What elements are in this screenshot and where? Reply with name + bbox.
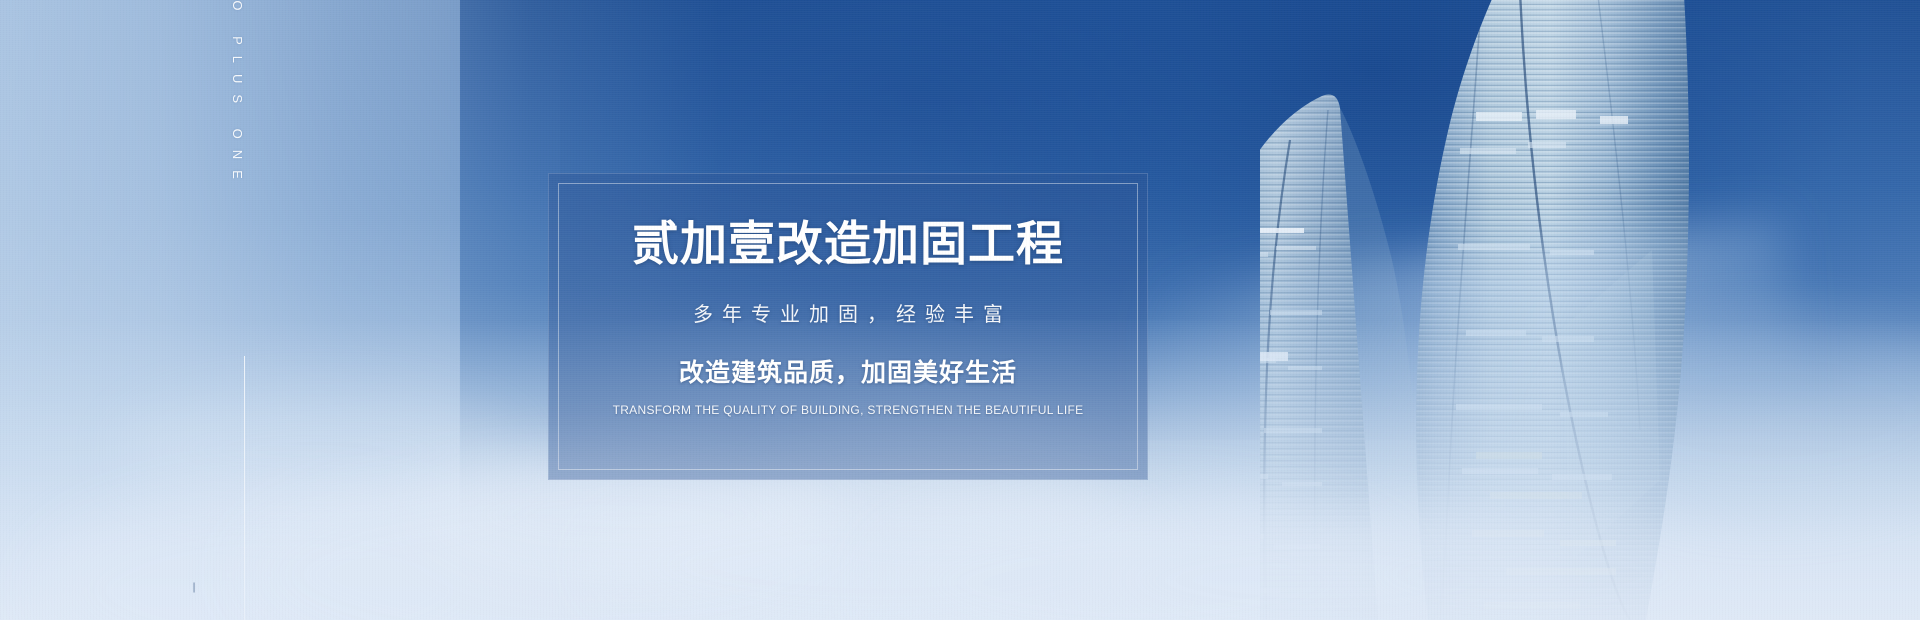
message-panel: 贰加壹改造加固工程 多年专业加固，经验丰富 改造建筑品质，加固美好生活 TRAN… <box>548 173 1148 480</box>
brand-mark-glyph: 一 <box>186 582 202 594</box>
cloud <box>120 390 520 510</box>
brand-divider-line <box>244 356 245 620</box>
hero-banner: TWO PLUS ONE 一 贰加壹改造加固工程 多年专业加固，经验丰富 改造建… <box>0 0 1920 620</box>
panel-title: 贰加壹改造加固工程 <box>632 219 1064 268</box>
brand-vertical-text: TWO PLUS ONE <box>230 0 245 190</box>
panel-slogan-english: TRANSFORM THE QUALITY OF BUILDING, STREN… <box>613 403 1084 417</box>
panel-slogan-chinese: 改造建筑品质，加固美好生活 <box>679 353 1017 389</box>
panel-subtitle: 多年专业加固，经验丰富 <box>684 298 1012 327</box>
message-panel-inner-border: 贰加壹改造加固工程 多年专业加固，经验丰富 改造建筑品质，加固美好生活 TRAN… <box>558 183 1138 470</box>
brand-rail: TWO PLUS ONE 一 <box>228 56 262 596</box>
